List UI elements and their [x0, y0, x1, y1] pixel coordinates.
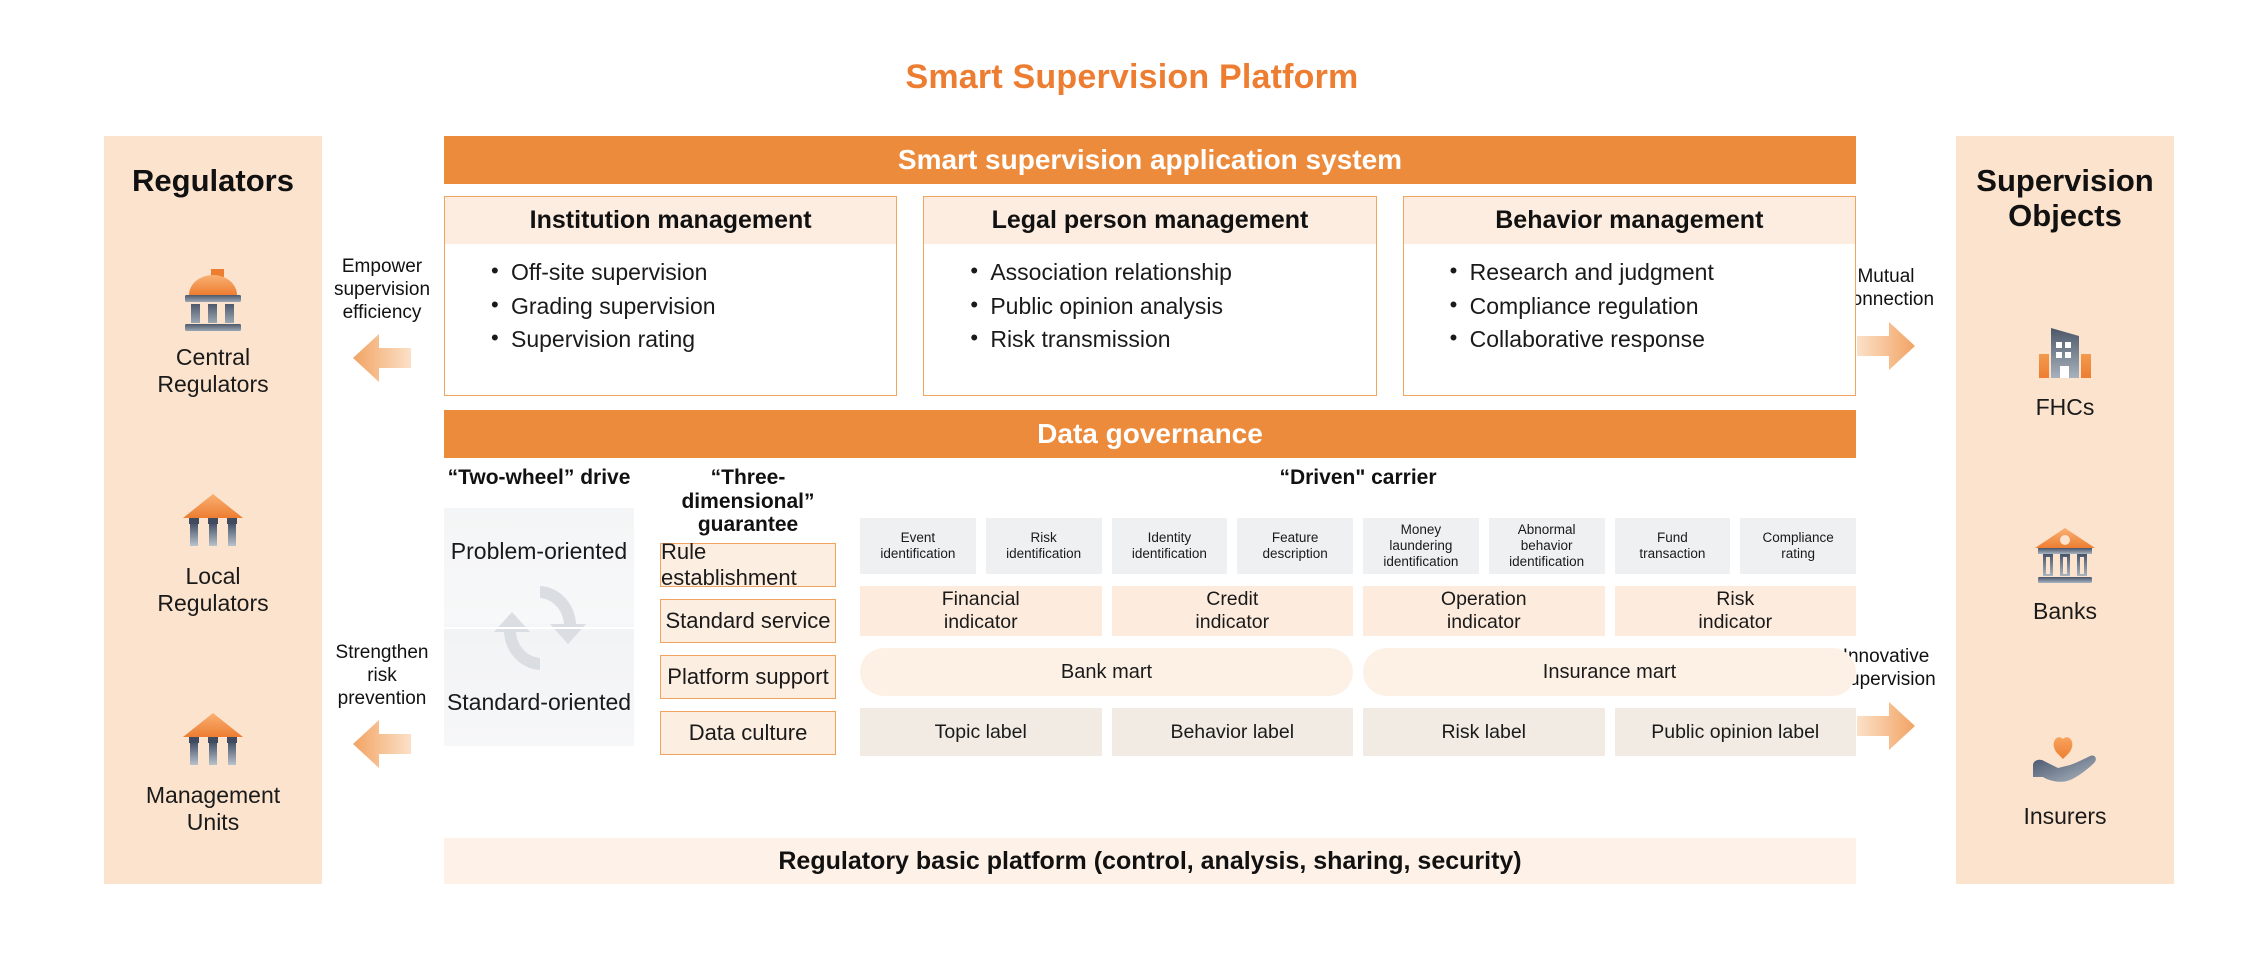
tier4-item[interactable]: Public opinion label [1615, 708, 1857, 756]
application-system-band: Smart supervision application system [444, 136, 1856, 184]
list-item: Research and judgment [1450, 256, 1855, 290]
right-panel-supervision-objects: Supervision Objects [1956, 136, 2174, 884]
driven-tier-labels: Topic label Behavior label Risk label Pu… [860, 708, 1856, 756]
three-dimensional-list: Rule establishment Standard service Plat… [660, 543, 836, 755]
governance-grid: “Two-wheel” drive Problem-oriented Stand… [444, 466, 1856, 836]
center-column: Smart supervision application system Ins… [444, 136, 1856, 884]
capitol-dome-icon [104, 262, 322, 338]
td-item-standard-service[interactable]: Standard service [660, 599, 836, 643]
list-item: Association relationship [970, 256, 1375, 290]
bank-pediment-icon [104, 481, 322, 557]
connector-label: Empower supervision efficiency [318, 256, 446, 324]
tier2-item[interactable]: Credit indicator [1112, 586, 1354, 636]
tier4-item[interactable]: Risk label [1363, 708, 1605, 756]
side-item-local-regulators[interactable]: Local Regulators [104, 481, 322, 617]
tier1-item[interactable]: Feature description [1237, 518, 1353, 574]
data-governance-band: Data governance [444, 410, 1856, 458]
card-heading: Institution management [445, 197, 896, 244]
tier2-item[interactable]: Financial indicator [860, 586, 1102, 636]
card-institution-management[interactable]: Institution management Off-site supervis… [444, 196, 897, 396]
cycle-arrows-icon [490, 572, 590, 689]
bank-pediment-icon [104, 700, 322, 776]
card-body: Association relationship Public opinion … [924, 244, 1375, 395]
driven-carrier-title: “Driven" carrier [860, 466, 1856, 512]
side-item-label: Insurers [1956, 803, 2174, 830]
page-title: Smart Supervision Platform [0, 58, 2264, 97]
management-cards: Institution management Off-site supervis… [444, 196, 1856, 396]
connector-strengthen: Strengthen risk prevention [318, 642, 446, 770]
two-wheel-box: Problem-oriented Standard-oriented [444, 508, 634, 746]
list-item: Collaborative response [1450, 323, 1855, 357]
two-wheel-top-label: Problem-oriented [444, 538, 634, 565]
list-item: Grading supervision [491, 290, 896, 324]
td-item-data-culture[interactable]: Data culture [660, 711, 836, 755]
list-item: Risk transmission [970, 323, 1375, 357]
tier1-item[interactable]: Compliance rating [1740, 518, 1856, 574]
tier2-item[interactable]: Risk indicator [1615, 586, 1857, 636]
three-dimensional-column: “Three-dimensional” guarantee Rule estab… [660, 466, 836, 755]
side-item-banks[interactable]: Banks [1956, 516, 2174, 625]
connector-label: Strengthen risk prevention [318, 642, 446, 710]
driven-tier-indicators: Financial indicator Credit indicator Ope… [860, 586, 1856, 636]
regulatory-basic-platform-bar: Regulatory basic platform (control, anal… [444, 838, 1856, 884]
side-item-label: FHCs [1956, 394, 2174, 421]
bank-columns-icon [1956, 516, 2174, 592]
list-item: Compliance regulation [1450, 290, 1855, 324]
driven-tier-marts: Bank mart Insurance mart [860, 648, 1856, 696]
office-building-icon [1956, 312, 2174, 388]
diagram-root: Smart Supervision Platform Regulators [0, 0, 2264, 956]
left-panel-title: Regulators [104, 136, 322, 199]
hand-heart-icon [1956, 721, 2174, 797]
tier1-item[interactable]: Identity identification [1112, 518, 1228, 574]
card-legal-person-management[interactable]: Legal person management Association rela… [923, 196, 1376, 396]
two-wheel-column: “Two-wheel” drive Problem-oriented Stand… [444, 466, 634, 746]
tier3-item-insurance-mart[interactable]: Insurance mart [1363, 648, 1856, 696]
arrow-left-icon [318, 332, 446, 384]
tier1-item[interactable]: Fund transaction [1615, 518, 1731, 574]
connector-empower: Empower supervision efficiency [318, 256, 446, 384]
tier2-item[interactable]: Operation indicator [1363, 586, 1605, 636]
list-item: Public opinion analysis [970, 290, 1375, 324]
two-wheel-bottom-label: Standard-oriented [444, 689, 634, 716]
side-item-fhcs[interactable]: FHCs [1956, 312, 2174, 421]
card-body: Research and judgment Compliance regulat… [1404, 244, 1855, 395]
tier1-item[interactable]: Event identification [860, 518, 976, 574]
left-panel-items: Central Regulators [104, 220, 322, 878]
driven-tier-identification: Event identification Risk identification… [860, 518, 1856, 574]
tier4-item[interactable]: Topic label [860, 708, 1102, 756]
side-item-insurers[interactable]: Insurers [1956, 721, 2174, 830]
card-heading: Legal person management [924, 197, 1375, 244]
side-item-label: Central Regulators [104, 344, 322, 398]
list-item: Supervision rating [491, 323, 896, 357]
arrow-left-icon [318, 718, 446, 770]
left-panel-regulators: Regulators [104, 136, 322, 884]
side-item-central-regulators[interactable]: Central Regulators [104, 262, 322, 398]
side-item-label: Local Regulators [104, 563, 322, 617]
card-body: Off-site supervision Grading supervision… [445, 244, 896, 395]
card-behavior-management[interactable]: Behavior management Research and judgmen… [1403, 196, 1856, 396]
tier1-item[interactable]: Money laundering identification [1363, 518, 1479, 574]
td-item-platform-support[interactable]: Platform support [660, 655, 836, 699]
right-panel-title: Supervision Objects [1956, 136, 2174, 233]
side-item-label: Management Units [104, 782, 322, 836]
side-item-label: Banks [1956, 598, 2174, 625]
tier1-item[interactable]: Risk identification [986, 518, 1102, 574]
tier4-item[interactable]: Behavior label [1112, 708, 1354, 756]
right-panel-items: FHCs [1956, 264, 2174, 878]
driven-carrier-column: “Driven" carrier Event identification Ri… [860, 466, 1856, 756]
card-heading: Behavior management [1404, 197, 1855, 244]
three-dimensional-title: “Three-dimensional” guarantee [660, 466, 836, 537]
two-wheel-title: “Two-wheel” drive [444, 466, 634, 490]
list-item: Off-site supervision [491, 256, 896, 290]
tier3-item-bank-mart[interactable]: Bank mart [860, 648, 1353, 696]
td-item-rule-establishment[interactable]: Rule establishment [660, 543, 836, 587]
side-item-management-units[interactable]: Management Units [104, 700, 322, 836]
tier1-item[interactable]: Abnormal behavior identification [1489, 518, 1605, 574]
